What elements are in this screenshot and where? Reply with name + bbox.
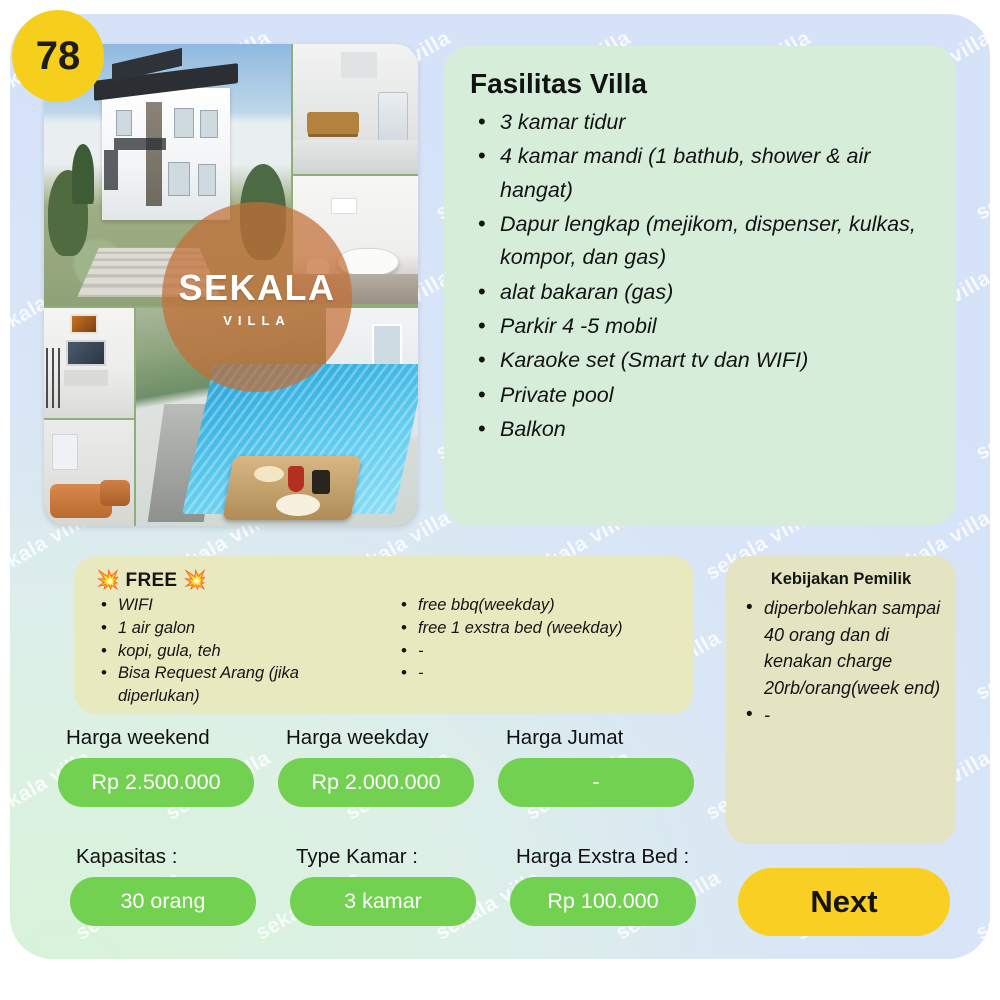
price-cell: Harga Exstra Bed :Rp 100.000 (498, 845, 718, 926)
free-left-column: WIFI1 air galonkopi, gula, tehBisa Reque… (96, 594, 374, 708)
watermark-text: sekala villa (972, 146, 990, 225)
price-row-primary: Harga weekendRp 2.500.000Harga weekdayRp… (58, 726, 718, 807)
logo-name: SEKALA (178, 267, 335, 309)
free-item: Bisa Request Arang (jika diperlukan) (96, 662, 374, 708)
price-cell: Harga weekendRp 2.500.000 (58, 726, 278, 807)
price-label: Harga Exstra Bed : (498, 845, 718, 869)
villa-listing-card: sekala villasekala villasekala villaseka… (0, 0, 1000, 1000)
facility-item: 3 kamar tidur (470, 106, 930, 139)
facilities-panel: Fasilitas Villa 3 kamar tidur4 kamar man… (444, 46, 956, 526)
logo-subtitle: VILLA (223, 313, 291, 328)
facilities-title: Fasilitas Villa (470, 68, 930, 100)
watermark-text: sekala villa (972, 626, 990, 705)
free-right-list: free bbq(weekday)free 1 exstra bed (week… (396, 594, 674, 685)
policy-item: diperbolehkan sampai 40 orang dan di ken… (740, 595, 942, 702)
facility-item: Parkir 4 -5 mobil (470, 310, 930, 343)
price-label: Harga weekend (58, 726, 278, 750)
policy-title: Kebijakan Pemilik (740, 570, 942, 589)
facility-item: Karaoke set (Smart tv dan WIFI) (470, 344, 930, 377)
free-item: free 1 exstra bed (weekday) (396, 617, 674, 640)
free-item: WIFI (96, 594, 374, 617)
price-row-secondary: Kapasitas :30 orangType Kamar :3 kamarHa… (58, 845, 718, 926)
photo-living-room (44, 420, 134, 526)
facility-item: 4 kamar mandi (1 bathub, shower & air ha… (470, 140, 930, 207)
owner-policy-panel: Kebijakan Pemilik diperbolehkan sampai 4… (726, 556, 956, 844)
price-cell: Harga weekdayRp 2.000.000 (278, 726, 498, 807)
price-value-pill: Rp 2.000.000 (278, 758, 474, 807)
facility-item: Balkon (470, 413, 930, 446)
watermark-text: sekala villa (972, 386, 990, 465)
free-item: 1 air galon (96, 617, 374, 640)
facility-item: alat bakaran (gas) (470, 276, 930, 309)
free-item: kopi, gula, teh (96, 640, 374, 663)
free-right-column: free bbq(weekday)free 1 exstra bed (week… (396, 594, 674, 708)
policy-list: diperbolehkan sampai 40 orang dan di ken… (740, 595, 942, 728)
photo-karaoke-room (44, 308, 134, 418)
listing-number-badge: 78 (12, 10, 104, 102)
price-cell: Kapasitas :30 orang (58, 845, 278, 926)
price-value-pill: Rp 100.000 (510, 877, 696, 926)
free-title: 💥 FREE 💥 (96, 568, 674, 592)
facility-item: Dapur lengkap (mejikom, dispenser, kulka… (470, 208, 930, 275)
price-value-pill: 30 orang (70, 877, 256, 926)
price-label: Harga Jumat (498, 726, 718, 750)
free-item: - (396, 662, 674, 685)
policy-item: - (740, 702, 942, 729)
listing-number: 78 (36, 34, 81, 79)
photo-collage[interactable]: SEKALA VILLA (44, 44, 418, 526)
price-cell: Harga Jumat- (498, 726, 718, 807)
watermark-text: sekala villa (972, 866, 990, 945)
price-label: Kapasitas : (58, 845, 278, 869)
price-value-pill: 3 kamar (290, 877, 476, 926)
free-item: free bbq(weekday) (396, 594, 674, 617)
facilities-list: 3 kamar tidur4 kamar mandi (1 bathub, sh… (470, 106, 930, 446)
free-left-list: WIFI1 air galonkopi, gula, tehBisa Reque… (96, 594, 374, 708)
next-button-label: Next (810, 884, 877, 920)
price-cell: Type Kamar :3 kamar (278, 845, 498, 926)
price-label: Type Kamar : (278, 845, 498, 869)
photo-kitchen-dining (293, 44, 418, 174)
house-shape (102, 88, 230, 220)
next-button[interactable]: Next (738, 868, 950, 936)
price-value-pill: - (498, 758, 694, 807)
free-panel: 💥 FREE 💥 WIFI1 air galonkopi, gula, tehB… (74, 556, 694, 714)
sekala-villa-logo: SEKALA VILLA (162, 202, 352, 392)
facility-item: Private pool (470, 379, 930, 412)
free-item: - (396, 640, 674, 663)
price-label: Harga weekday (278, 726, 498, 750)
price-value-pill: Rp 2.500.000 (58, 758, 254, 807)
